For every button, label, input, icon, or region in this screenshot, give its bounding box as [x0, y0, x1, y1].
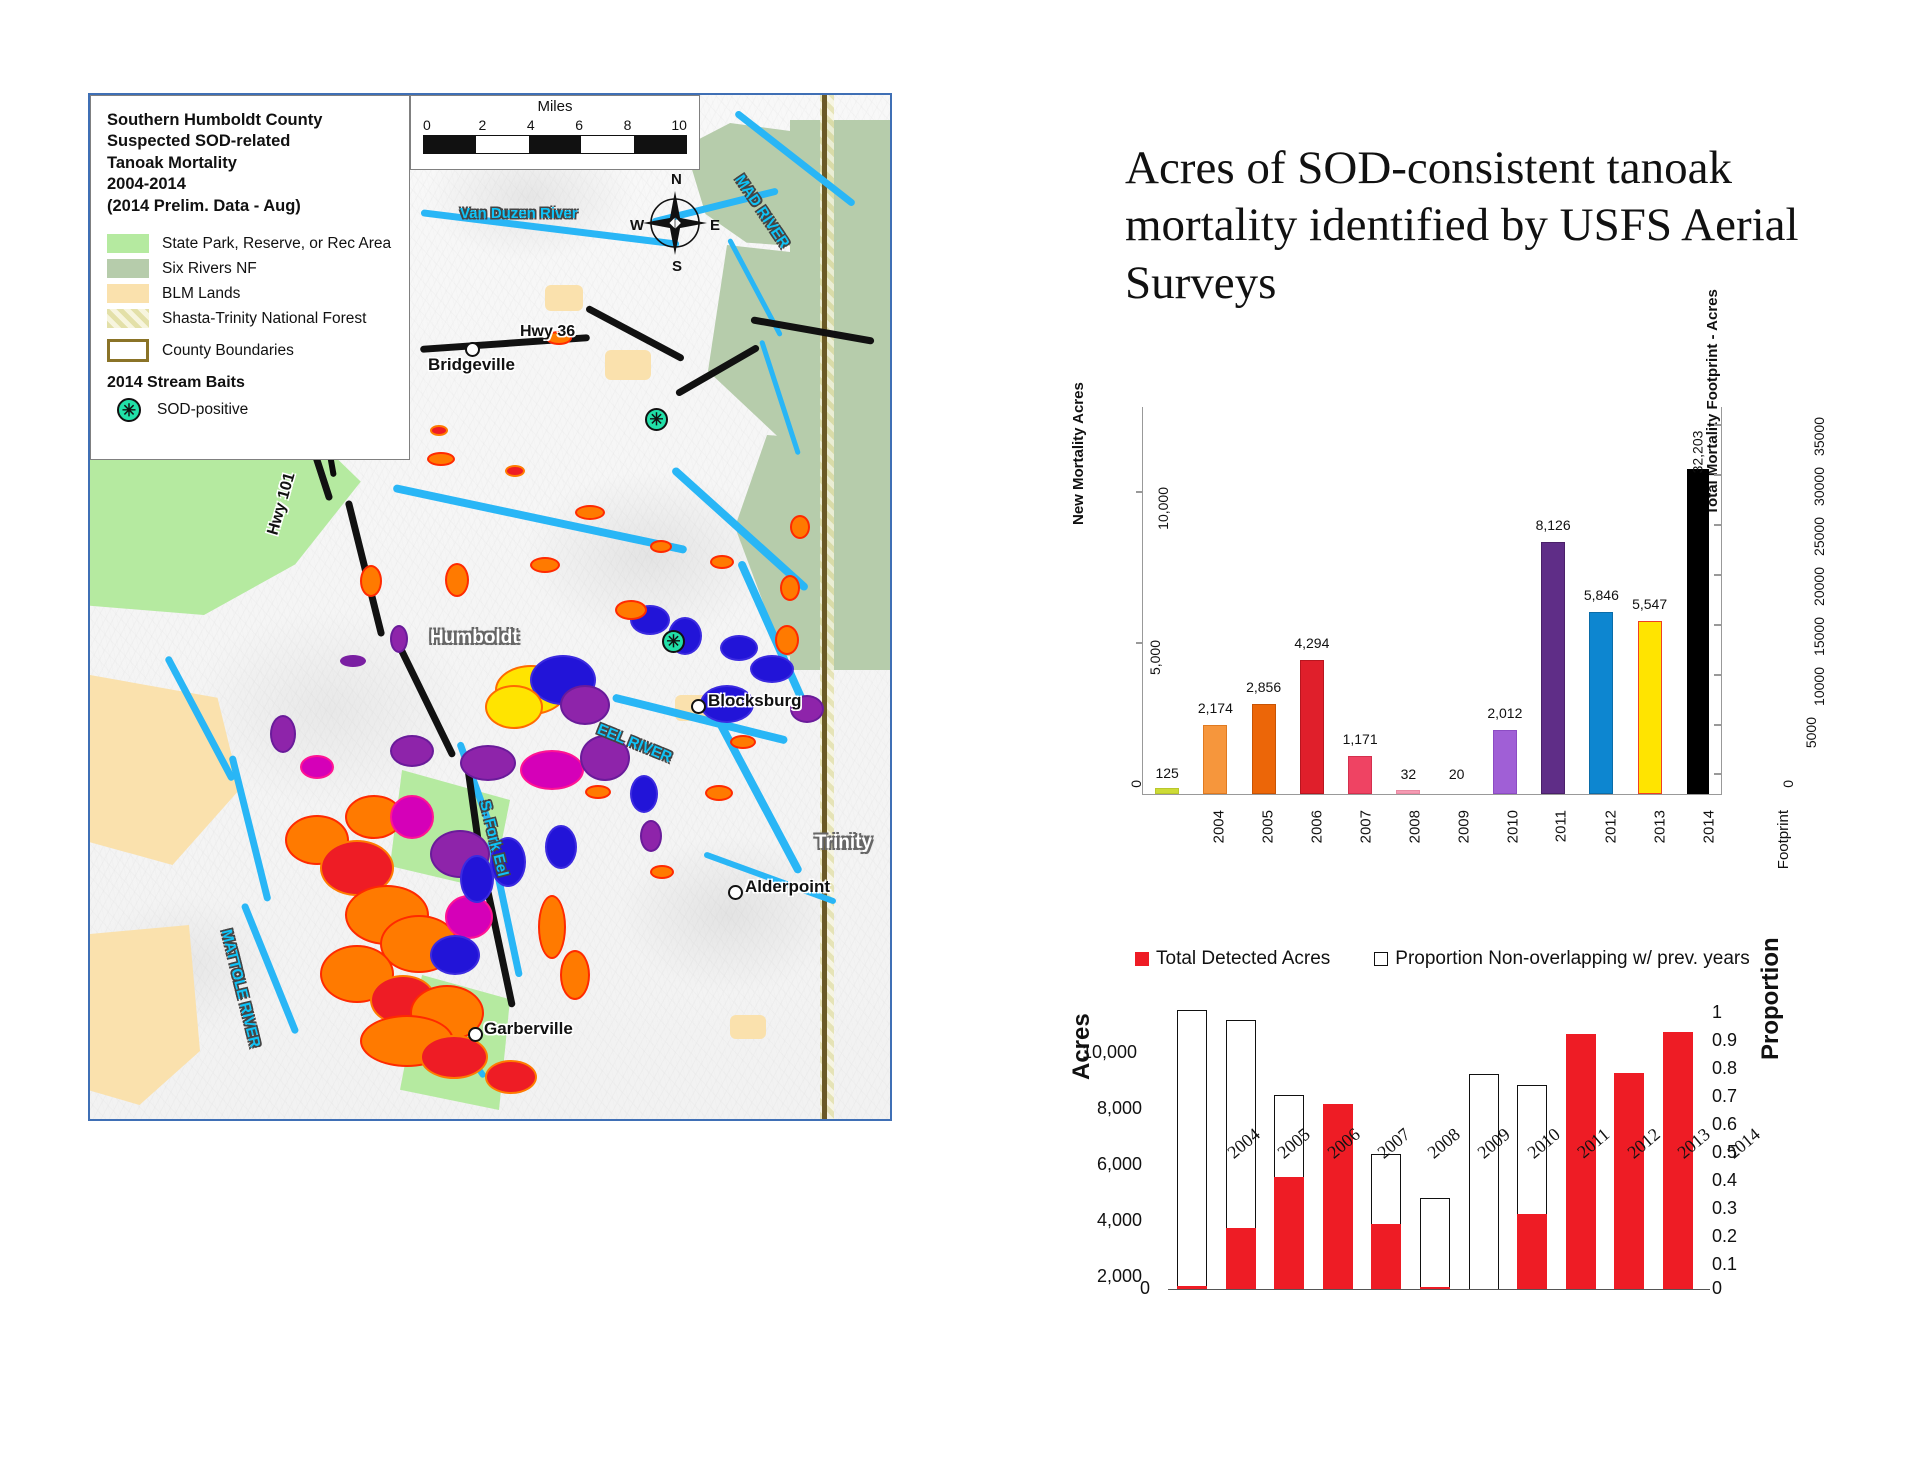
chart-top-xtick-footprint: Footprint: [1775, 810, 1792, 869]
legend-entry-label: Proportion Non-overlapping w/ prev. year…: [1395, 948, 1750, 969]
legend-label: SOD-positive: [157, 401, 248, 419]
legend-item-sod-positive: ✳ SOD-positive: [107, 398, 395, 422]
mortality-polygon: [430, 935, 480, 975]
swatch-blm-icon: [107, 284, 149, 303]
bar-2009[interactable]: [1396, 790, 1420, 794]
bar-2012[interactable]: [1541, 542, 1565, 794]
mortality-polygon: [585, 785, 611, 799]
legend-title-line: 2004-2014: [107, 174, 395, 195]
mortality-polygon: [340, 655, 366, 667]
chart-top-xtick-2005: 2005: [1259, 810, 1276, 843]
mortality-polygon: [705, 785, 733, 801]
land-blm: [730, 1015, 766, 1039]
chart-total-detected-acres: Acres Proportion 10,000 8,000 6,000 4,00…: [1080, 1000, 1780, 1400]
legend-marker-filled-square-icon: [1135, 952, 1149, 966]
chart-top-xtick-2006: 2006: [1308, 810, 1325, 843]
compass-rose: N S W E: [630, 173, 720, 273]
chart-top-xtick-2010: 2010: [1504, 810, 1521, 843]
chart-bottom-y2tick: 0.6: [1712, 1114, 1737, 1135]
mortality-polygon: [300, 755, 334, 779]
chart-bottom-y2tick: 0.8: [1712, 1058, 1737, 1079]
bar-footprint[interactable]: [1687, 469, 1709, 794]
chart-new-mortality-acres: New Mortality Acres Total Mortality Foot…: [1080, 395, 1780, 915]
bar-2008[interactable]: [1348, 756, 1372, 794]
bar-2007[interactable]: [1300, 660, 1324, 794]
legend-item-county-boundaries: County Boundaries: [107, 338, 395, 363]
mortality-polygon: [390, 795, 434, 839]
place-dot-alderpoint: [728, 885, 743, 900]
bar-value-label: 5,547: [1632, 596, 1667, 612]
bar-value-label: 32,203: [1690, 431, 1706, 474]
openbar-2010[interactable]: [1469, 1074, 1499, 1290]
bar-group-2013: 5,846: [1577, 407, 1625, 794]
scalebar-graphic: [423, 135, 687, 154]
place-label-bridgeville: Bridgeville: [428, 355, 515, 375]
bar-value-label: 125: [1155, 765, 1178, 781]
bar-value-label: 4,294: [1294, 635, 1329, 651]
mortality-polygon: [545, 825, 577, 869]
bar-value-label: 8,126: [1536, 517, 1571, 533]
bar-group-2014: 5,547: [1626, 407, 1674, 794]
mortality-polygon: [650, 540, 672, 553]
chart-top-y-axis-label: New Mortality Acres: [1070, 382, 1087, 525]
openbar-2009[interactable]: [1420, 1198, 1450, 1290]
bar-group-2012: 8,126: [1529, 407, 1577, 794]
mortality-polygon: [485, 1060, 537, 1094]
chart-bottom-y2-axis-label: Proportion: [1757, 937, 1785, 1060]
chart-top-xtick-2011: 2011: [1552, 810, 1569, 842]
mortality-polygon: [505, 465, 525, 477]
mortality-polygon: [630, 775, 658, 813]
redbar-2006[interactable]: [1274, 1177, 1304, 1290]
mortality-polygon: [390, 735, 434, 767]
page-title: Acres of SOD-consistent tanoak mortality…: [1125, 140, 1885, 312]
scalebar-tick: 0: [423, 117, 445, 133]
land-blm: [605, 350, 651, 380]
scalebar-ticks: 0 2 4 6 8 10: [423, 117, 687, 133]
chart-bottom-legend: Total Detected Acres Proportion Non-over…: [1135, 948, 1750, 971]
legend-marker-open-square-icon: [1374, 952, 1388, 966]
place-label-trinity: Trinity: [815, 832, 872, 854]
bar-group-2005: 2,174: [1191, 407, 1239, 794]
chart-top-y2tick: 30000: [1811, 467, 1827, 506]
legend-label: Six Rivers NF: [162, 260, 257, 278]
place-dot-garberville: [468, 1027, 483, 1042]
bar-2005[interactable]: [1203, 725, 1227, 794]
bar-2010[interactable]: [1446, 793, 1468, 794]
legend-label: County Boundaries: [162, 342, 294, 360]
redbar-2008[interactable]: [1371, 1224, 1401, 1290]
legend-item-state-park: State Park, Reserve, or Rec Area: [107, 231, 395, 256]
chart-top-xtick-2007: 2007: [1357, 810, 1374, 843]
legend-title-line: (2014 Prelim. Data - Aug): [107, 196, 395, 217]
bar-value-label: 2,856: [1246, 679, 1281, 695]
scalebar-tick: 2: [471, 117, 493, 133]
mortality-polygon: [390, 625, 408, 653]
legend-item-blm: BLM Lands: [107, 281, 395, 306]
swatch-shasta-trinity-icon: [107, 309, 149, 328]
mortality-polygon: [520, 750, 584, 790]
mortality-polygon: [790, 515, 810, 539]
chart-top-plot-area: 125 2,174 2,856 4,294 1,171 32: [1142, 407, 1722, 795]
mortality-polygon: [485, 685, 543, 729]
chart-top-bars: 125 2,174 2,856 4,294 1,171 32: [1143, 407, 1722, 794]
legend-stream-baits-title: 2014 Stream Baits: [107, 374, 395, 392]
bar-value-label: 20: [1449, 766, 1465, 782]
land-blm: [545, 285, 583, 311]
chart-top-y2tick: 5000: [1803, 717, 1819, 748]
bar-group-2004: 125: [1143, 407, 1191, 794]
bar-value-label: 5,846: [1584, 587, 1619, 603]
mortality-polygon: [720, 635, 758, 661]
chart-bottom-y2tick: 1: [1712, 1002, 1722, 1023]
legend-entry-total-detected-acres: Total Detected Acres: [1135, 948, 1330, 971]
sod-positive-marker[interactable]: ✳: [662, 630, 685, 653]
mortality-polygon: [560, 685, 610, 725]
chart-top-y2tick: 20000: [1811, 567, 1827, 606]
mortality-polygon: [538, 895, 566, 959]
mortality-polygon: [750, 655, 794, 683]
bar-group-2006: 2,856: [1240, 407, 1288, 794]
scalebar-tick: 8: [617, 117, 639, 133]
compass-south-label: S: [672, 258, 682, 275]
bar-value-label: 2,174: [1198, 700, 1233, 716]
place-label-blocksburg: Blocksburg: [708, 691, 802, 711]
scalebar-tick: 10: [665, 117, 687, 133]
openbar-2004[interactable]: [1177, 1010, 1207, 1290]
legend-title: Southern Humboldt County Suspected SOD-r…: [107, 110, 395, 217]
chart-bottom-ytick: 8,000: [1097, 1098, 1142, 1119]
map-scalebar: Miles 0 2 4 6 8 10: [410, 95, 700, 170]
mortality-polygon: [445, 895, 493, 939]
chart-bottom-ytick: 10,000: [1082, 1042, 1137, 1063]
chart-top-xtick-2004: 2004: [1210, 810, 1227, 843]
chart-bottom-x-axis: [1168, 1289, 1710, 1291]
redbar-2013[interactable]: [1614, 1073, 1644, 1290]
chart-top-xtick-2008: 2008: [1406, 810, 1423, 843]
bar-group-2007: 4,294: [1288, 407, 1336, 794]
chart-bottom-ytick: 2,000: [1097, 1266, 1142, 1287]
chart-bottom-ytick: 0: [1140, 1278, 1150, 1299]
place-label-alderpoint: Alderpoint: [745, 877, 830, 897]
chart-top-y2tick: 10000: [1811, 667, 1827, 706]
legend-item-six-rivers: Six Rivers NF: [107, 256, 395, 281]
scalebar-tick: 6: [568, 117, 590, 133]
mortality-polygon: [360, 565, 382, 597]
compass-west-label: W: [630, 217, 644, 234]
chart-top-y2tick: 25000: [1811, 517, 1827, 556]
chart-bottom-y2tick: 0.1: [1712, 1254, 1737, 1275]
mortality-polygon: [615, 600, 647, 620]
compass-east-label: E: [710, 217, 720, 234]
chart-top-xtick-2014: 2014: [1700, 810, 1717, 843]
place-label-humboldt: Humboldt: [430, 627, 519, 649]
chart-bottom-ytick: 6,000: [1097, 1154, 1142, 1175]
chart-top-y2tick: 35000: [1811, 417, 1827, 456]
chart-bottom-y2tick: 0.9: [1712, 1030, 1737, 1051]
bar-2014[interactable]: [1638, 621, 1662, 794]
mortality-polygon: [730, 735, 756, 749]
mortality-polygon: [530, 557, 560, 573]
mortality-polygon: [710, 555, 734, 569]
chart-bottom-y2tick: 0.7: [1712, 1086, 1737, 1107]
bar-2011[interactable]: [1493, 730, 1517, 794]
scalebar-tick: 4: [520, 117, 542, 133]
bar-group-2008: 1,171: [1336, 407, 1384, 794]
map-panel: Humboldt Trinity Bridgeville Blocksburg …: [88, 93, 892, 1121]
river-label-van-duzen: Van Duzen River: [460, 205, 578, 222]
legend-entry-label: Total Detected Acres: [1156, 948, 1330, 969]
map-legend: Southern Humboldt County Suspected SOD-r…: [90, 95, 410, 460]
legend-entry-proportion-non-overlapping: Proportion Non-overlapping w/ prev. year…: [1374, 948, 1750, 971]
bar-group-2004: [1168, 1010, 1217, 1290]
sod-positive-asterisk-icon: ✳: [117, 398, 141, 422]
bar-group-2009: 32: [1384, 407, 1432, 794]
mortality-polygon: [427, 452, 455, 466]
chart-bottom-y2tick: 0.4: [1712, 1170, 1737, 1191]
chart-bottom-y2tick: 0: [1712, 1278, 1722, 1299]
legend-items: State Park, Reserve, or Rec Area Six Riv…: [107, 231, 395, 363]
mortality-polygon: [640, 820, 662, 852]
bar-2004[interactable]: [1155, 788, 1179, 794]
place-label-garberville: Garberville: [484, 1019, 573, 1039]
redbar-2005[interactable]: [1226, 1228, 1256, 1290]
bar-2013[interactable]: [1589, 612, 1613, 794]
bar-group-2010: 20: [1433, 407, 1481, 794]
legend-title-line: Southern Humboldt County: [107, 110, 395, 131]
mortality-polygon: [575, 505, 605, 520]
bar-value-label: 32: [1401, 766, 1417, 782]
mortality-polygon: [780, 575, 800, 601]
place-dot-blocksburg: [691, 699, 706, 714]
bar-value-label: 2,012: [1487, 705, 1522, 721]
mortality-polygon: [445, 563, 469, 597]
legend-title-line: Tanoak Mortality: [107, 153, 395, 174]
chart-top-xtick-2012: 2012: [1602, 810, 1619, 843]
bar-2006[interactable]: [1252, 704, 1276, 794]
bar-value-label: 1,171: [1343, 731, 1378, 747]
legend-label: Shasta-Trinity National Forest: [162, 310, 366, 328]
swatch-county-boundary-icon: [107, 339, 149, 362]
legend-item-shasta-trinity: Shasta-Trinity National Forest: [107, 306, 395, 331]
bar-group-footprint: 32,203: [1674, 407, 1722, 794]
bar-group-2011: 2,012: [1481, 407, 1529, 794]
swatch-six-rivers-icon: [107, 259, 149, 278]
mortality-polygon: [460, 745, 516, 781]
county-boundary-east: [822, 95, 827, 1119]
redbar-2012[interactable]: [1566, 1034, 1596, 1290]
mortality-polygon: [270, 715, 296, 753]
legend-label: BLM Lands: [162, 285, 240, 303]
legend-label: State Park, Reserve, or Rec Area: [162, 235, 391, 253]
redbar-2011[interactable]: [1517, 1214, 1547, 1290]
chart-bottom-y2tick: 0.2: [1712, 1226, 1737, 1247]
chart-bottom-y2tick: 0.3: [1712, 1198, 1737, 1219]
mortality-polygon: [430, 425, 448, 436]
chart-top-xtick-2009: 2009: [1455, 810, 1472, 843]
scalebar-title: Miles: [423, 99, 687, 116]
sod-positive-marker[interactable]: ✳: [645, 408, 668, 431]
mortality-polygon: [460, 855, 494, 903]
mortality-polygon: [560, 950, 590, 1000]
highway-label-36: Hwy 36: [520, 323, 575, 341]
swatch-state-park-icon: [107, 234, 149, 253]
legend-title-line: Suspected SOD-related: [107, 131, 395, 152]
mortality-polygon: [650, 865, 674, 879]
chart-top-y2tick: 0: [1780, 780, 1796, 788]
compass-north-label: N: [671, 171, 682, 188]
chart-bottom-ytick: 4,000: [1097, 1210, 1142, 1231]
mortality-polygon: [775, 625, 799, 655]
chart-top-y2tick: 15000: [1811, 617, 1827, 656]
chart-top-xtick-2013: 2013: [1651, 810, 1668, 843]
